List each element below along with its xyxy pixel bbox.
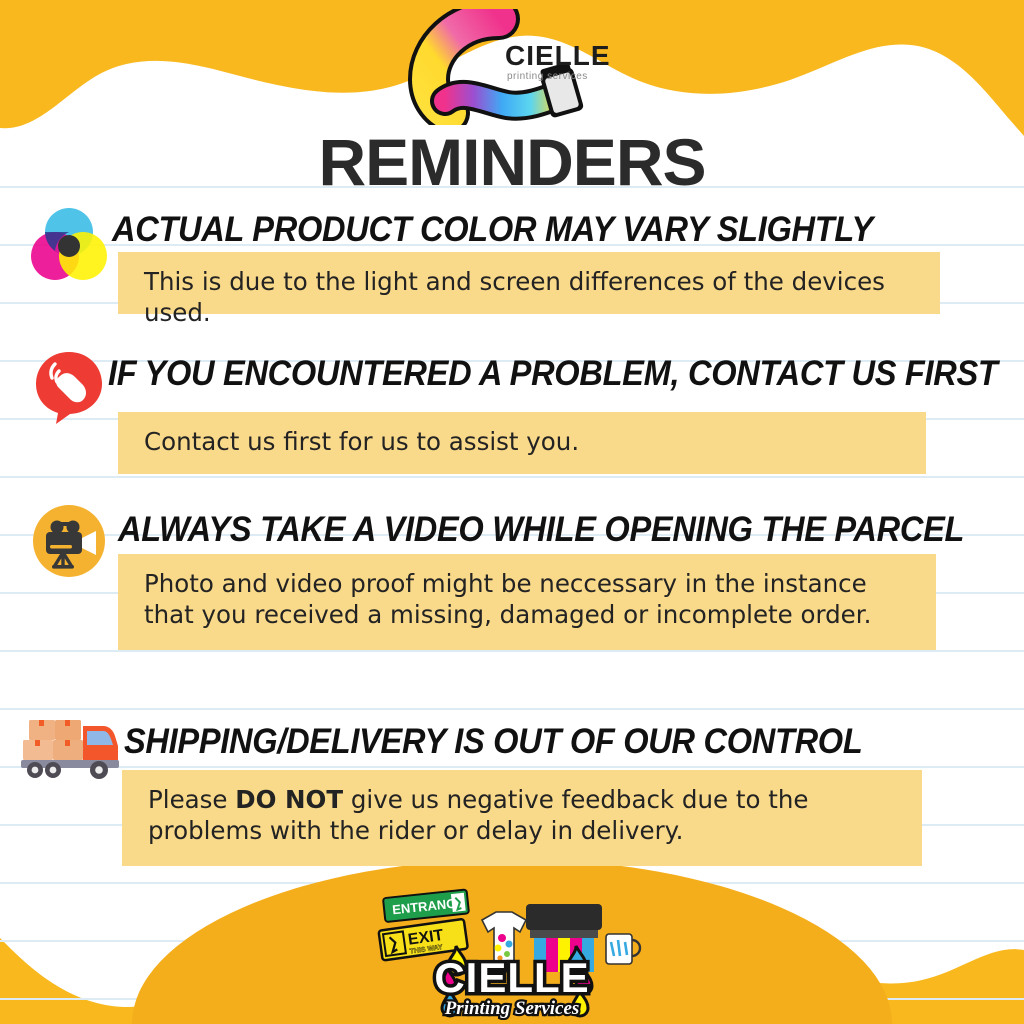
header-logo-brand: CIELLE	[505, 40, 611, 71]
reminder-note: This is due to the light and screen diff…	[118, 252, 940, 314]
cmyk-color-wheel-icon	[28, 204, 110, 286]
reminder-headline: SHIPPING/DELIVERY IS OUT OF OUR CONTROL	[124, 722, 862, 762]
phone-speech-bubble-icon	[28, 344, 110, 426]
page-title: REMINDERS	[0, 124, 1024, 200]
note-before: Please	[148, 785, 235, 814]
note-emphasis: DO NOT	[235, 785, 343, 814]
reminder-note: Contact us first for us to assist you.	[118, 412, 926, 474]
reminders-poster: CIELLE printing services REMINDERS AC	[0, 0, 1024, 1024]
reminder-note: Photo and video proof might be neccessar…	[118, 554, 936, 650]
reminder-headline: IF YOU ENCOUNTERED A PROBLEM, CONTACT US…	[108, 354, 998, 394]
footer-logo-brand: CIELLE	[434, 954, 589, 1001]
header-logo: CIELLE printing services	[0, 8, 1024, 126]
reminder-note-shipping: Please DO NOT give us negative feedback …	[122, 770, 922, 866]
reminder-headline: ALWAYS TAKE A VIDEO WHILE OPENING THE PA…	[118, 510, 964, 550]
video-camera-icon	[28, 500, 110, 582]
footer-logo-tagline: Printing Services	[444, 998, 580, 1019]
delivery-truck-icon	[18, 702, 124, 784]
header-logo-tagline: printing services	[507, 71, 588, 82]
reminder-headline: ACTUAL PRODUCT COLOR MAY VARY SLIGHTLY	[112, 210, 873, 250]
footer-logo: ENTRANCE EXIT THIS WAY	[362, 880, 662, 1020]
